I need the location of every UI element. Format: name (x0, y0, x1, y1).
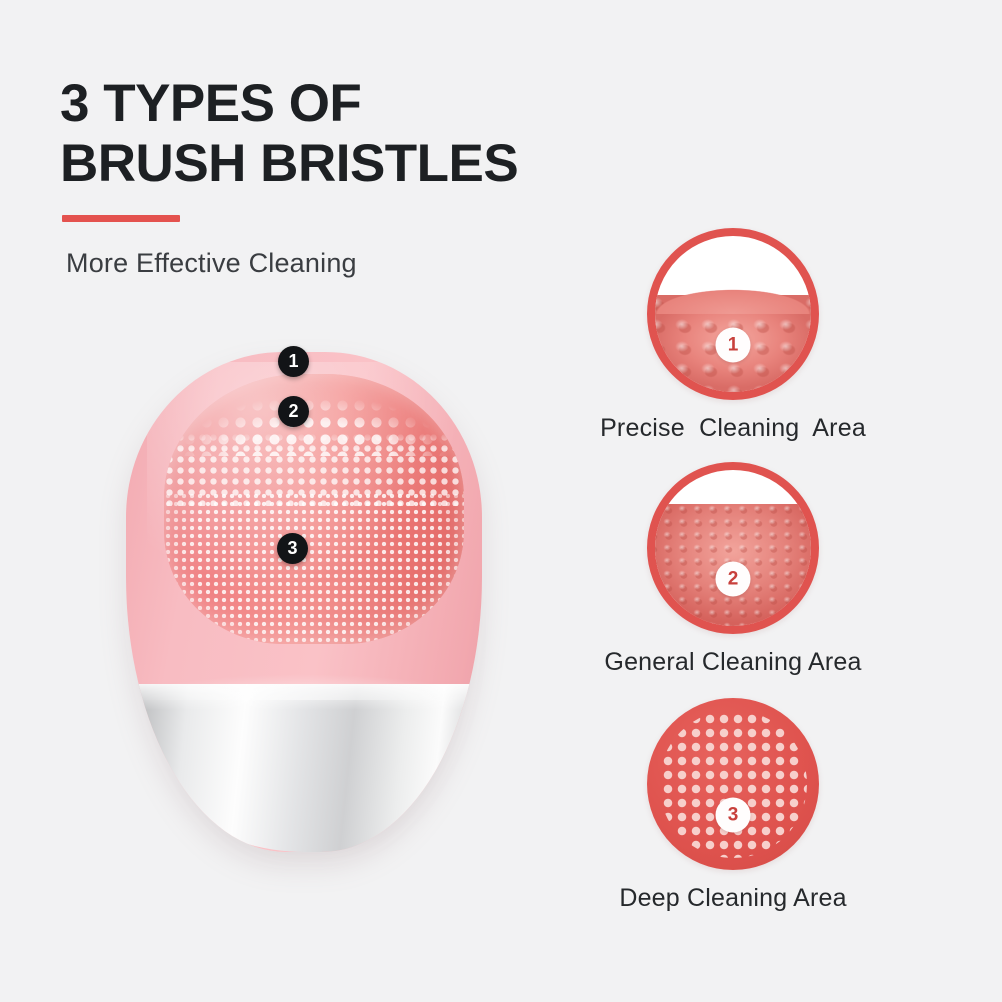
device-body (126, 352, 482, 852)
bristle-edge-curve (647, 280, 819, 314)
page-subtitle: More Effective Cleaning (66, 248, 357, 279)
bristle-closeup-ring-2 (647, 462, 819, 634)
product-device-illustration: 1 2 3 (118, 340, 498, 860)
bristle-zone-general (164, 432, 464, 506)
feature-general-cleaning: 2 General Cleaning Area (563, 462, 903, 677)
feature-3-label: Deep Cleaning Area (563, 884, 903, 913)
infographic-page: 3 TYPES OF BRUSH BRISTLES More Effective… (0, 0, 1002, 1002)
bristle-zone-deep (164, 492, 464, 644)
device-badge-2: 2 (278, 396, 309, 427)
device-metal-base (138, 684, 482, 852)
feature-2-image: 2 (647, 462, 819, 634)
feature-2-number-badge: 2 (716, 561, 751, 596)
bristle-dots-fine (659, 710, 807, 858)
feature-precise-cleaning: 1 Precise Cleaning Area (563, 228, 903, 443)
feature-1-label: Precise Cleaning Area (563, 414, 903, 443)
bristle-closeup-ring-1 (647, 228, 819, 400)
device-badge-1: 1 (278, 346, 309, 377)
feature-1-number-badge: 1 (716, 327, 751, 362)
title-line-2: BRUSH BRISTLES (60, 134, 680, 194)
brush-head (164, 374, 464, 644)
bristle-closeup-disc-3 (647, 698, 819, 870)
title-line-1: 3 TYPES OF (60, 74, 361, 133)
feature-3-number-badge: 3 (716, 797, 751, 832)
feature-2-label: General Cleaning Area (563, 648, 903, 677)
page-title: 3 TYPES OF BRUSH BRISTLES (60, 74, 680, 194)
bristle-zone-precise (164, 380, 464, 456)
feature-deep-cleaning: 3 Deep Cleaning Area (563, 698, 903, 913)
device-badge-3: 3 (277, 533, 308, 564)
feature-1-image: 1 (647, 228, 819, 400)
feature-3-image: 3 (647, 698, 819, 870)
accent-underline (62, 215, 180, 222)
